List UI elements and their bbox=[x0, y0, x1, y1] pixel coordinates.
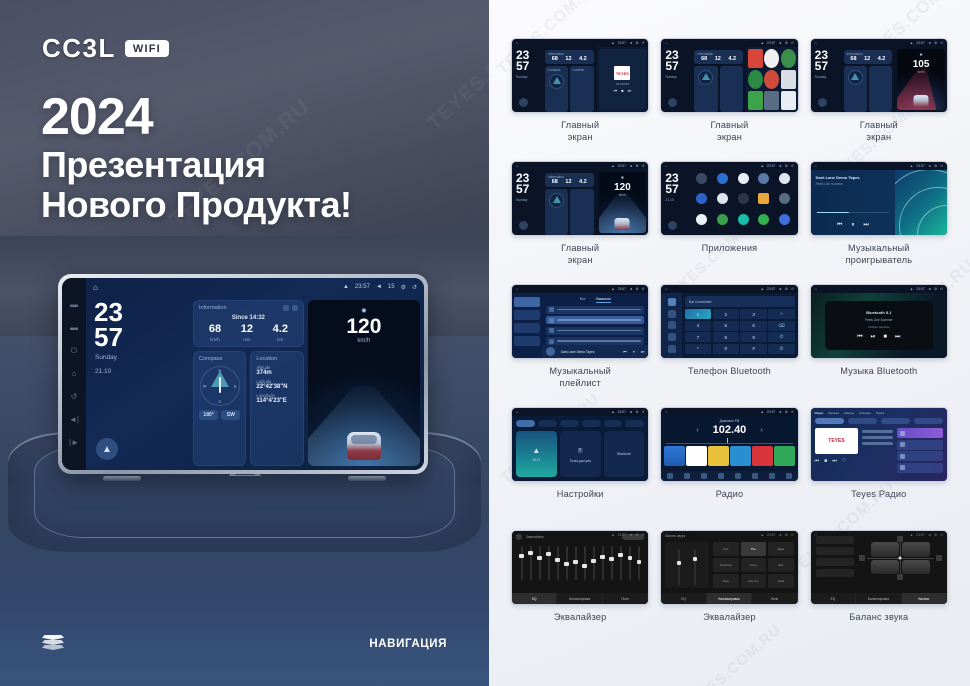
eq-band[interactable] bbox=[530, 546, 532, 580]
radio-toolbar[interactable] bbox=[661, 471, 797, 481]
list-item[interactable] bbox=[897, 451, 943, 461]
dialpad-key[interactable]: # bbox=[740, 344, 766, 354]
back-arrow-icon: ↺ bbox=[791, 41, 794, 45]
preset-station[interactable] bbox=[752, 446, 772, 466]
teyes-radio-backdrop: Радио Музыка Жанры Станции Поиск TEYES bbox=[811, 408, 947, 481]
list-item[interactable] bbox=[897, 428, 943, 438]
arrow-left-icon[interactable] bbox=[859, 555, 865, 561]
app-icon[interactable] bbox=[754, 214, 773, 232]
mic-icon[interactable]: ▬ bbox=[70, 301, 78, 309]
information-card[interactable]: Information Since 14:32 bbox=[193, 300, 304, 347]
wifi-icon: ▲ bbox=[761, 533, 764, 537]
volume-icon: ◄ bbox=[778, 164, 781, 168]
preset-station[interactable] bbox=[774, 446, 794, 466]
user-avatar-icon[interactable]: ▲ bbox=[96, 438, 118, 460]
gear-icon[interactable] bbox=[769, 473, 775, 479]
screenshot-equalizer[interactable]: ⌂▲23:57◄⚙↺ Эквалайзер bbox=[511, 530, 649, 605]
play-pause-icon[interactable]: ⏯ bbox=[871, 334, 876, 341]
compass-west-label: W bbox=[203, 384, 207, 389]
wifi-icon: ▲ bbox=[910, 287, 913, 291]
page-title: 2024 Презентация Нового Продукта! bbox=[41, 90, 352, 225]
station-logo bbox=[900, 442, 905, 447]
trip-distance-value: 4.2 bbox=[728, 56, 736, 62]
next-icon[interactable]: ⏭ bbox=[628, 88, 632, 93]
album-art bbox=[546, 347, 555, 356]
screenshot-apps[interactable]: ⌂▲23:57◄⚙↺ 235721.10 bbox=[660, 161, 798, 236]
tab-local[interactable]: Локально bbox=[596, 297, 611, 303]
settings-tabs[interactable] bbox=[512, 416, 648, 427]
app-icon[interactable] bbox=[764, 91, 779, 110]
back-arrow-icon: ↺ bbox=[791, 164, 794, 168]
gallery-caption: Музыкальныйпроигрыватель bbox=[845, 243, 912, 266]
sidebar-item[interactable] bbox=[514, 323, 540, 333]
app-icon[interactable] bbox=[764, 49, 779, 68]
grid-icon[interactable] bbox=[786, 473, 792, 479]
hud-speed-widget[interactable]: ✹ 105 km/h bbox=[897, 49, 945, 110]
prev-icon[interactable]: ⏮ bbox=[815, 458, 820, 464]
dialpad-key[interactable]: 3 bbox=[740, 309, 766, 319]
contacts-icon[interactable] bbox=[668, 310, 676, 318]
next-icon[interactable]: ⏭ bbox=[895, 334, 900, 341]
hud-speed-widget[interactable]: ✹ 120 km/h bbox=[599, 172, 647, 233]
app-icon[interactable] bbox=[734, 214, 753, 232]
preset-pad[interactable]: Свой bbox=[768, 574, 794, 588]
app-icon[interactable] bbox=[748, 70, 763, 89]
teyes-radio-filters[interactable] bbox=[811, 415, 947, 424]
screenshot-home-hud-red[interactable]: ⌂▲23:57◄⚙↺ 2357Sunday Information68124.2… bbox=[810, 38, 948, 113]
preset-pad[interactable]: Джаз bbox=[768, 542, 794, 556]
volume-up-icon[interactable]: |► bbox=[69, 439, 79, 447]
tab-genres[interactable]: Жанры bbox=[844, 411, 854, 415]
status-time: 23:57 bbox=[618, 164, 627, 168]
dialpad-key[interactable]: 2 bbox=[713, 309, 739, 319]
home-icon: ⌂ bbox=[516, 533, 518, 537]
gallery-item[interactable]: ⌂▲23:57◄⚙↺ Dark Lane Demo Tapes Feels Li… bbox=[810, 161, 948, 281]
preset-pad[interactable]: Бас bbox=[768, 558, 794, 572]
list-item[interactable] bbox=[546, 327, 644, 335]
station-logo bbox=[900, 465, 905, 470]
filter-chip[interactable] bbox=[815, 418, 844, 424]
list-item[interactable] bbox=[897, 463, 943, 473]
app-icon[interactable] bbox=[775, 193, 794, 211]
preset-pad[interactable]: Голос bbox=[741, 558, 767, 572]
eq-band[interactable] bbox=[575, 546, 577, 580]
list-item[interactable] bbox=[546, 306, 644, 314]
tab-eq[interactable]: EQ bbox=[512, 593, 557, 604]
app-icon[interactable] bbox=[693, 214, 712, 232]
gear-icon[interactable] bbox=[668, 345, 676, 353]
app-icon[interactable] bbox=[764, 70, 779, 89]
dialpad-key[interactable]: 8 bbox=[713, 332, 739, 342]
gear-icon[interactable] bbox=[283, 305, 289, 311]
clock-minutes: 57 bbox=[516, 61, 542, 72]
preset-station[interactable] bbox=[686, 446, 706, 466]
eq-band[interactable] bbox=[548, 546, 550, 580]
head-unit-screen[interactable]: ⌂ ▲ 23:57 ◄ 15 ⚙ ↺ 23 57 bbox=[86, 278, 424, 470]
eq-band[interactable] bbox=[584, 546, 586, 580]
altitude-row: Altitude 374m bbox=[256, 365, 297, 376]
tab-field[interactable]: Поле bbox=[752, 593, 797, 604]
clock-minutes: 57 bbox=[516, 184, 542, 195]
preset-pad[interactable]: Танц bbox=[713, 574, 739, 588]
equalizer-tabs[interactable]: EQ Балансировка Поле bbox=[661, 593, 797, 604]
media-controls[interactable]: ⏮ ⏸ ⏭ bbox=[811, 222, 896, 229]
preset-station[interactable] bbox=[664, 446, 684, 466]
clock-weekday: Sunday bbox=[516, 198, 542, 202]
playlist-sidebar[interactable] bbox=[512, 293, 542, 358]
dialpad-key[interactable]: * bbox=[685, 344, 711, 354]
layers-icon bbox=[42, 635, 64, 652]
dialpad-icon[interactable] bbox=[668, 298, 676, 306]
backspace-icon[interactable]: ⌫ bbox=[768, 321, 794, 331]
gallery-item[interactable]: Радио Музыка Жанры Станции Поиск TEYES bbox=[810, 407, 948, 527]
settings-card-wifi[interactable]: ▲Wi-Fi bbox=[516, 431, 557, 477]
arrow-right-icon[interactable] bbox=[936, 555, 942, 561]
hud-speed-widget[interactable]: ✹ 120 km/h bbox=[308, 300, 420, 466]
tab-balance[interactable]: Балансировка bbox=[856, 593, 901, 604]
app-launcher-grid[interactable] bbox=[689, 170, 798, 235]
dial-input[interactable]: Not Connected bbox=[685, 296, 795, 307]
trip-time-value: 12 bbox=[241, 324, 253, 335]
phone-sidebar[interactable] bbox=[661, 293, 681, 358]
screenshot-bluetooth-music[interactable]: ⌂▲23:57◄⚙↺ Bluetooth 5.1 Feels Like Summ… bbox=[810, 284, 948, 359]
app-icon[interactable] bbox=[734, 193, 753, 211]
prev-icon[interactable]: ⏮ bbox=[837, 222, 842, 229]
eject-icon[interactable]: ▬ bbox=[70, 324, 78, 332]
eq-band[interactable] bbox=[557, 546, 559, 580]
dialpad-key[interactable]: 6 bbox=[740, 321, 766, 331]
next-icon[interactable]: ⏭ bbox=[863, 222, 868, 229]
eq-band[interactable] bbox=[602, 546, 604, 580]
balance-presets[interactable] bbox=[816, 536, 854, 580]
sidebar-item[interactable] bbox=[514, 297, 540, 307]
teyes-radio-tabs[interactable]: Радио Музыка Жанры Станции Поиск bbox=[811, 408, 947, 415]
filter-chip[interactable] bbox=[848, 418, 877, 424]
eq-band[interactable] bbox=[521, 546, 523, 580]
gallery-item[interactable]: ⌂▲23:57◄⚙↺ Not Connected 1 2 3 ☆ 4 5 bbox=[660, 284, 798, 404]
bt-music-card: Bluetooth 5.1 Feels Like Summer Childish… bbox=[825, 301, 933, 350]
tab-search[interactable]: Поиск bbox=[876, 411, 884, 415]
list-icon[interactable] bbox=[701, 473, 707, 479]
equalizer-screen[interactable]: ⌂▲23:57◄⚙↺ Эквалайзер bbox=[512, 531, 648, 604]
wifi-icon: ▲ bbox=[532, 446, 540, 455]
prev-icon[interactable]: ⏮ bbox=[614, 88, 618, 93]
gallery-item[interactable]: ⌂▲23:57◄⚙↺ 2357Sunday Information68124.2 bbox=[660, 38, 798, 158]
screenshot-bluetooth-phone[interactable]: ⌂▲23:57◄⚙↺ Not Connected 1 2 3 ☆ 4 5 bbox=[660, 284, 798, 359]
status-bar: ⌂ ▲ 23:57 ◄ 15 ⚙ ↺ bbox=[86, 278, 424, 296]
gallery-item[interactable]: ⌂▲23:57◄⚙↺ 2357Sunday Information68124.2… bbox=[810, 38, 948, 158]
balance-stage[interactable] bbox=[859, 536, 942, 580]
gallery-caption: Музыкальныйплейлист bbox=[549, 366, 611, 389]
station-list[interactable] bbox=[897, 428, 943, 473]
app-icon[interactable] bbox=[734, 173, 753, 191]
preset-station[interactable] bbox=[708, 446, 728, 466]
app-icon[interactable] bbox=[713, 173, 732, 191]
screenshot-home-hud[interactable]: ⌂▲23:57◄⚙↺ 2357Sunday Information68124.2… bbox=[511, 161, 649, 236]
gallery-item[interactable]: ⌂▲23:57◄⚙↺ bbox=[810, 530, 948, 650]
location-card[interactable]: Location Altitude 374m Latitude 22°42'38… bbox=[250, 351, 303, 466]
tab-display[interactable] bbox=[560, 420, 579, 427]
settings-card-hotspot[interactable]: ⌾Точка доступа bbox=[560, 431, 601, 477]
app-icon[interactable] bbox=[775, 173, 794, 191]
tab-field[interactable]: Баланс bbox=[902, 593, 947, 604]
next-station-icon[interactable]: › bbox=[760, 427, 762, 434]
stop-icon[interactable]: ■ bbox=[883, 334, 887, 341]
eq-band[interactable] bbox=[638, 546, 640, 580]
tab-all[interactable]: Все bbox=[580, 297, 586, 303]
screenshot-home-media[interactable]: ⌂▲23:57◄⚙↺ 2357Sunday Information68124.2… bbox=[511, 38, 649, 113]
tab-radio[interactable]: Радио bbox=[815, 411, 824, 415]
hotspot-icon: ⌾ bbox=[578, 446, 583, 456]
clock-hours: 23 bbox=[90, 300, 189, 325]
tab-balance[interactable]: Балансировка bbox=[557, 593, 602, 604]
prev-station-icon[interactable]: ‹ bbox=[696, 427, 698, 434]
wifi-icon: ▲ bbox=[611, 533, 614, 537]
pause-icon[interactable]: ⏸ bbox=[633, 349, 635, 354]
gallery-item[interactable]: ⌂▲23:57◄⚙↺ 235721.10 bbox=[660, 161, 798, 281]
app-icon[interactable] bbox=[748, 49, 763, 68]
eq-band[interactable] bbox=[566, 546, 568, 580]
home-icon: ⌂ bbox=[516, 164, 518, 168]
eq-band[interactable] bbox=[593, 546, 595, 580]
next-icon[interactable]: ⏭ bbox=[832, 458, 837, 464]
home-icon: ⌂ bbox=[815, 164, 817, 168]
preset-pad[interactable]: Поп bbox=[713, 542, 739, 556]
track-title: Dark Lane Demo Tapes bbox=[561, 350, 594, 354]
trip-speed-value: 68 bbox=[552, 179, 558, 185]
back-arrow-icon: ↺ bbox=[791, 533, 794, 537]
tab-balance[interactable]: Балансировка bbox=[707, 593, 752, 604]
volume-icon: ◄ bbox=[629, 533, 632, 537]
app-icon[interactable] bbox=[781, 70, 796, 89]
home-icon: ⌂ bbox=[815, 287, 817, 291]
back-arrow-icon[interactable] bbox=[668, 221, 677, 230]
app-icon[interactable] bbox=[693, 193, 712, 211]
gallery-item[interactable]: ⌂▲23:57◄⚙↺ Диапазон FM ‹ 102.40 › bbox=[660, 407, 798, 527]
head-unit-hard-keys[interactable]: ▬ ▬ ⏻ ⌂ ↺ ◄| |► bbox=[62, 278, 86, 470]
pause-icon[interactable]: ⏸ bbox=[851, 222, 854, 229]
slider[interactable] bbox=[694, 549, 696, 585]
gallery-item[interactable]: ⌂▲23:57◄⚙↺ 2357Sunday Information68124.2… bbox=[511, 38, 649, 158]
prev-icon[interactable]: ⏮ bbox=[623, 349, 627, 354]
filter-chip[interactable] bbox=[914, 418, 943, 424]
app-icon[interactable] bbox=[693, 173, 712, 191]
app-grid-icon[interactable] bbox=[781, 91, 796, 110]
arrow-up-icon[interactable] bbox=[897, 536, 903, 542]
radio-frequency: 102.40 bbox=[713, 424, 747, 436]
arrow-down-icon[interactable] bbox=[897, 574, 903, 580]
gear-icon: ⚙ bbox=[934, 41, 937, 45]
eq-band[interactable] bbox=[611, 546, 613, 580]
trip-distance-unit: km bbox=[273, 337, 288, 342]
sidebar-item[interactable] bbox=[514, 336, 540, 346]
gallery-caption: Эквалайзер bbox=[554, 612, 606, 624]
media-controls[interactable]: ⏮■⏭♡ bbox=[815, 458, 859, 464]
volume-icon[interactable]: ◄ bbox=[376, 284, 382, 290]
dialpad-key[interactable]: 5 bbox=[713, 321, 739, 331]
dialpad-key[interactable]: 4 bbox=[685, 321, 711, 331]
radio-band-label: Диапазон FM bbox=[661, 416, 797, 423]
dialpad-key[interactable]: 7 bbox=[685, 332, 711, 342]
stop-icon[interactable]: ■ bbox=[824, 458, 827, 464]
call-log-icon[interactable] bbox=[668, 333, 676, 341]
screenshot-teyes-radio[interactable]: Радио Музыка Жанры Станции Поиск TEYES bbox=[810, 407, 948, 482]
mini-player-bar[interactable]: Dark Lane Demo Tapes ⏮ ⏸ ⏭ bbox=[542, 345, 648, 358]
gear-icon: ⚙ bbox=[934, 287, 937, 291]
user-avatar-icon bbox=[668, 98, 677, 107]
media-controls[interactable]: ⏮■⏭ bbox=[614, 88, 632, 93]
tab-sound[interactable] bbox=[538, 420, 557, 427]
sound-presets[interactable]: Поп Рок Джаз Классика Голос Бас Танц Хип… bbox=[713, 542, 794, 588]
gallery-item[interactable]: ⌂▲23:57◄⚙↺ 2357Sunday Information68124.2… bbox=[511, 161, 649, 281]
app-icon[interactable] bbox=[775, 214, 794, 232]
tab-more[interactable] bbox=[625, 420, 644, 427]
expand-icon[interactable] bbox=[292, 305, 298, 311]
gallery-item[interactable]: ⌂▲23:57◄⚙↺ Эквалайзер bbox=[511, 530, 649, 650]
band-icon[interactable] bbox=[667, 473, 673, 479]
app-icon[interactable] bbox=[713, 214, 732, 232]
dialpad-key[interactable]: 1 bbox=[685, 309, 711, 319]
search-icon[interactable] bbox=[684, 473, 690, 479]
eq-band[interactable] bbox=[629, 546, 631, 580]
dialpad-key[interactable]: 0 bbox=[713, 344, 739, 354]
favorite-icon[interactable]: ♡ bbox=[842, 458, 846, 464]
call-icon[interactable]: ✆ bbox=[768, 344, 794, 354]
app-icon[interactable] bbox=[748, 91, 763, 110]
gear-icon: ⚙ bbox=[635, 533, 638, 537]
screenshot-gallery: TEYES.COM.RU TEYES.COM.RU TEYES.COM.RU T… bbox=[489, 0, 970, 686]
preset-pad[interactable]: Классика bbox=[713, 558, 739, 572]
tab-music[interactable]: Музыка bbox=[828, 411, 839, 415]
home-icon: ⌂ bbox=[815, 533, 817, 537]
screenshot-music-player[interactable]: ⌂▲23:57◄⚙↺ Dark Lane Demo Tapes Feels Li… bbox=[810, 161, 948, 236]
home-icon[interactable]: ⌂ bbox=[72, 370, 77, 378]
gallery-item[interactable]: ⌂▲23:57◄⚙↺ Баланс звука Поп Рок Джаз bbox=[660, 530, 798, 650]
gear-icon[interactable]: ⚙ bbox=[401, 284, 406, 291]
clock-widget: 23 57 Sunday 21.10 ▲ bbox=[90, 300, 189, 466]
screenshot-sound-balance[interactable]: ⌂▲23:57◄⚙↺ bbox=[810, 530, 948, 605]
media-controls[interactable]: ⏮ ⏯ ■ ⏭ bbox=[857, 334, 900, 341]
tab-field[interactable]: Поле bbox=[603, 593, 648, 604]
equalizer-faders[interactable] bbox=[512, 540, 648, 580]
balance-sliders[interactable] bbox=[665, 542, 709, 588]
dialpad-key[interactable]: 9 bbox=[740, 332, 766, 342]
favorite-icon[interactable]: ☆ bbox=[768, 309, 794, 319]
gallery-item[interactable]: ⌂▲23:57◄⚙↺ Bluetooth 5.1 Feels Like Summ… bbox=[810, 284, 948, 404]
app-icon[interactable] bbox=[754, 173, 773, 191]
trip-since-label: Since 14:32 bbox=[199, 315, 298, 321]
volume-down-icon[interactable]: ◄| bbox=[69, 416, 79, 424]
search-icon[interactable] bbox=[668, 321, 676, 329]
preset-row[interactable] bbox=[816, 558, 854, 566]
hero-footer: НАВИГАЦИЯ bbox=[42, 635, 447, 652]
back-arrow-icon: ↺ bbox=[641, 287, 644, 291]
list-item[interactable] bbox=[546, 337, 644, 345]
equalizer-screen-2[interactable]: ⌂▲23:57◄⚙↺ Баланс звука Поп Рок Джаз bbox=[661, 531, 797, 604]
equalizer-tabs[interactable]: EQ Балансировка Поле bbox=[512, 593, 648, 604]
gear-icon: ⚙ bbox=[785, 41, 788, 45]
back-arrow-icon[interactable]: ↺ bbox=[412, 284, 417, 291]
preset-pad[interactable]: Хип-хоп bbox=[741, 574, 767, 588]
gallery-item[interactable]: ⌂▲23:57◄⚙↺ ▲Wi-Fi ⌾Точка доступа Bluetoo… bbox=[511, 407, 649, 527]
screenshot-music-playlist[interactable]: ⌂▲23:57◄⚙↺ ВсеЛокально Dark Lane D bbox=[511, 284, 649, 359]
user-avatar-icon bbox=[519, 98, 528, 107]
watermark: TEYES.COM.RU bbox=[423, 8, 489, 135]
list-item[interactable] bbox=[897, 440, 943, 450]
back-icon[interactable]: ↺ bbox=[71, 393, 78, 401]
compass-dial: N E S W bbox=[200, 366, 240, 406]
tab-wifi[interactable] bbox=[516, 420, 535, 427]
compass-south-label: S bbox=[218, 399, 221, 404]
dial-pad[interactable]: 1 2 3 ☆ 4 5 6 ⌫ 7 8 9 ✆ bbox=[685, 309, 795, 354]
radio-frequency-scale[interactable] bbox=[666, 438, 792, 444]
screenshot-equalizer-2[interactable]: ⌂▲23:57◄⚙↺ Баланс звука Поп Рок Джаз bbox=[660, 530, 798, 605]
call-icon[interactable]: ✆ bbox=[768, 332, 794, 342]
tab-eq[interactable]: EQ bbox=[811, 593, 856, 604]
back-arrow-icon: ↺ bbox=[791, 287, 794, 291]
screenshot-radio[interactable]: ⌂▲23:57◄⚙↺ Диапазон FM ‹ 102.40 › bbox=[660, 407, 798, 482]
tab-about[interactable] bbox=[604, 420, 623, 427]
back-arrow-icon: ↺ bbox=[940, 287, 943, 291]
balance-screen[interactable]: ⌂▲23:57◄⚙↺ bbox=[811, 531, 947, 604]
stop-icon[interactable]: ■ bbox=[621, 88, 623, 93]
radio-tuner[interactable]: ‹ 102.40 › bbox=[661, 424, 797, 436]
eq-icon[interactable] bbox=[718, 473, 724, 479]
status-time: 23:57 bbox=[767, 287, 776, 291]
next-icon[interactable]: ⏭ bbox=[641, 349, 645, 354]
gear-icon: ⚙ bbox=[635, 287, 638, 291]
latitude-value: 22°42'38"N bbox=[256, 384, 297, 390]
sidebar-item[interactable] bbox=[514, 310, 540, 320]
gallery-item[interactable]: ⌂▲23:57◄⚙↺ ВсеЛокально Dark Lane D bbox=[511, 284, 649, 404]
filter-chip[interactable] bbox=[881, 418, 910, 424]
balance-position-handle[interactable] bbox=[899, 557, 902, 560]
home-icon[interactable]: ⌂ bbox=[93, 283, 98, 292]
app-shortcut-panel[interactable] bbox=[748, 49, 796, 110]
list-item[interactable] bbox=[546, 316, 644, 324]
preset-pad[interactable]: Рок bbox=[741, 542, 767, 556]
app-icon[interactable] bbox=[754, 193, 773, 211]
eq-band[interactable] bbox=[620, 546, 622, 580]
eq-band[interactable] bbox=[539, 546, 541, 580]
scan-icon[interactable] bbox=[735, 473, 741, 479]
trip-time-value: 12 bbox=[715, 56, 721, 62]
balance-tabs[interactable]: EQ Балансировка Баланс bbox=[811, 593, 947, 604]
power-icon[interactable]: ⏻ bbox=[71, 347, 77, 355]
app-icon[interactable] bbox=[781, 49, 796, 68]
settings-card-bluetooth[interactable]: Bluetooth bbox=[604, 431, 645, 477]
volume-icon: ◄ bbox=[629, 287, 632, 291]
stereo-icon[interactable] bbox=[752, 473, 758, 479]
preset-row[interactable] bbox=[816, 569, 854, 577]
progress-slider[interactable] bbox=[817, 212, 890, 214]
preset-station[interactable] bbox=[730, 446, 750, 466]
tab-eq[interactable]: EQ bbox=[661, 593, 706, 604]
prev-icon[interactable]: ⏮ bbox=[857, 334, 862, 341]
wifi-icon: ▲ bbox=[611, 287, 614, 291]
back-arrow-icon: ↺ bbox=[791, 410, 794, 414]
tab-system[interactable] bbox=[582, 420, 601, 427]
tab-stations[interactable]: Станции bbox=[859, 411, 871, 415]
slider[interactable] bbox=[678, 549, 680, 585]
screenshot-settings[interactable]: ⌂▲23:57◄⚙↺ ▲Wi-Fi ⌾Точка доступа Bluetoo… bbox=[511, 407, 649, 482]
compass-card[interactable]: Compass N E S W bbox=[193, 351, 246, 466]
back-arrow-icon: ↺ bbox=[940, 41, 943, 45]
radio-presets[interactable] bbox=[661, 444, 797, 466]
app-icon[interactable] bbox=[713, 193, 732, 211]
screenshot-home-apps[interactable]: ⌂▲23:57◄⚙↺ 2357Sunday Information68124.2 bbox=[660, 38, 798, 113]
preset-row[interactable] bbox=[816, 547, 854, 555]
